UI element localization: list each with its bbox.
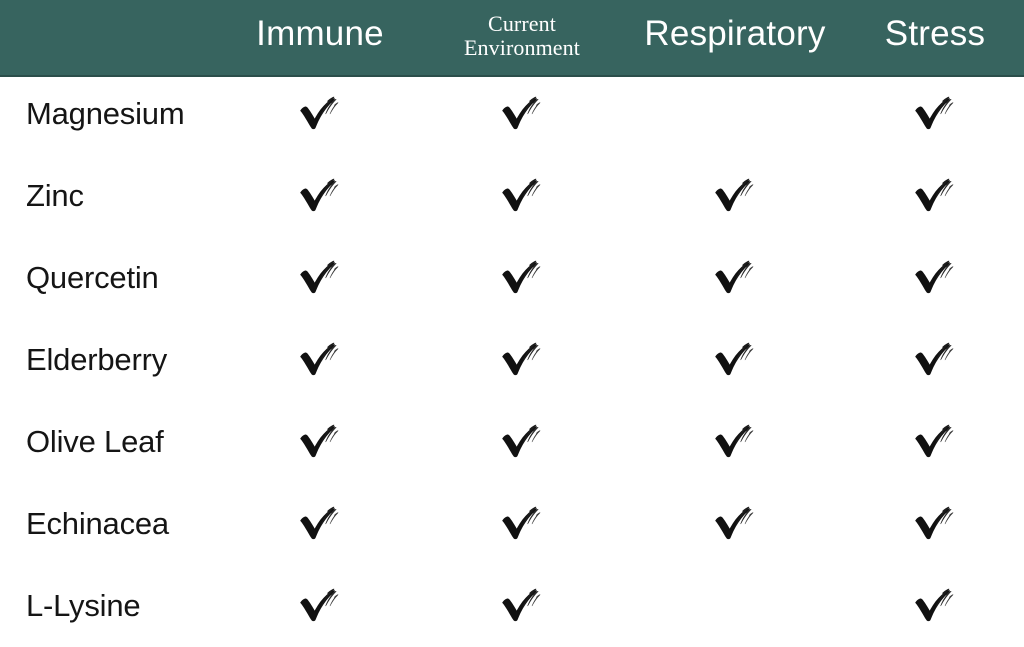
- brush-checkmark-icon: [298, 260, 342, 296]
- column-header-respiratory: Respiratory: [635, 16, 835, 51]
- row-label-zinc: Zinc: [26, 155, 84, 237]
- brush-checkmark-icon: [713, 260, 757, 296]
- column-header-respiratory-label: Respiratory: [635, 16, 835, 51]
- cell-check: [275, 319, 365, 401]
- brush-checkmark-icon: [298, 342, 342, 378]
- cell-check: [890, 155, 980, 237]
- cell-check: [477, 73, 567, 155]
- brush-checkmark-icon: [500, 342, 544, 378]
- brush-checkmark-icon: [298, 178, 342, 214]
- brush-checkmark-icon: [913, 260, 957, 296]
- cell-check: [477, 319, 567, 401]
- brush-checkmark-icon: [500, 588, 544, 624]
- column-header-current-environment-line2: Environment: [432, 36, 612, 60]
- cell-check: [477, 565, 567, 647]
- brush-checkmark-icon: [913, 178, 957, 214]
- table-row: Zinc: [0, 155, 1024, 237]
- cell-empty: [690, 73, 780, 155]
- brush-checkmark-icon: [913, 342, 957, 378]
- row-label-olive-leaf: Olive Leaf: [26, 401, 164, 483]
- cell-check: [690, 483, 780, 565]
- row-label-quercetin: Quercetin: [26, 237, 159, 319]
- cell-check: [275, 73, 365, 155]
- brush-checkmark-icon: [500, 506, 544, 542]
- cell-check: [275, 237, 365, 319]
- brush-checkmark-icon: [713, 342, 757, 378]
- brush-checkmark-icon: [298, 588, 342, 624]
- brush-checkmark-icon: [500, 178, 544, 214]
- cell-check: [275, 483, 365, 565]
- column-header-current-environment-line1: Current: [432, 12, 612, 36]
- cell-check: [275, 155, 365, 237]
- table-row: Olive Leaf: [0, 401, 1024, 483]
- brush-checkmark-icon: [298, 96, 342, 132]
- cell-check: [275, 565, 365, 647]
- brush-checkmark-icon: [713, 506, 757, 542]
- cell-check: [690, 155, 780, 237]
- brush-checkmark-icon: [500, 96, 544, 132]
- comparison-table-body: MagnesiumZincQuercetinElderberryOlive Le…: [0, 77, 1024, 634]
- cell-check: [477, 483, 567, 565]
- row-label-magnesium: Magnesium: [26, 73, 184, 155]
- cell-check: [890, 401, 980, 483]
- cell-check: [477, 237, 567, 319]
- cell-check: [275, 401, 365, 483]
- brush-checkmark-icon: [713, 178, 757, 214]
- table-row: Magnesium: [0, 73, 1024, 155]
- cell-check: [890, 237, 980, 319]
- brush-checkmark-icon: [500, 260, 544, 296]
- brush-checkmark-icon: [298, 506, 342, 542]
- cell-check: [890, 483, 980, 565]
- brush-checkmark-icon: [298, 424, 342, 460]
- cell-check: [690, 401, 780, 483]
- row-label-echinacea: Echinacea: [26, 483, 169, 565]
- brush-checkmark-icon: [713, 424, 757, 460]
- cell-empty: [690, 565, 780, 647]
- row-label-elderberry: Elderberry: [26, 319, 167, 401]
- cell-check: [890, 319, 980, 401]
- cell-check: [890, 565, 980, 647]
- column-header-immune: Immune: [220, 16, 420, 51]
- cell-check: [690, 319, 780, 401]
- column-header-immune-label: Immune: [220, 16, 420, 51]
- brush-checkmark-icon: [913, 588, 957, 624]
- column-header-stress-label: Stress: [850, 16, 1020, 51]
- column-header-current-environment: Current Environment: [432, 12, 612, 60]
- cell-check: [477, 155, 567, 237]
- cell-check: [477, 401, 567, 483]
- cell-check: [690, 237, 780, 319]
- table-row: L-Lysine: [0, 565, 1024, 647]
- brush-checkmark-icon: [500, 424, 544, 460]
- table-row: Quercetin: [0, 237, 1024, 319]
- row-label-l-lysine: L-Lysine: [26, 565, 140, 647]
- table-row: Elderberry: [0, 319, 1024, 401]
- brush-checkmark-icon: [913, 96, 957, 132]
- table-row: Echinacea: [0, 483, 1024, 565]
- cell-check: [890, 73, 980, 155]
- brush-checkmark-icon: [913, 424, 957, 460]
- column-header-stress: Stress: [850, 16, 1020, 51]
- brush-checkmark-icon: [913, 506, 957, 542]
